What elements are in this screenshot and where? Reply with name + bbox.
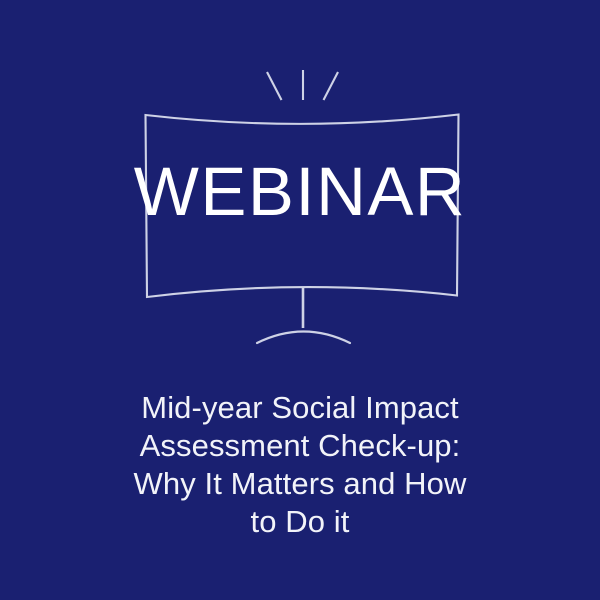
light-ray-right-icon — [324, 72, 339, 100]
monitor-base-icon — [257, 332, 350, 344]
webinar-poster: WEBINAR Mid-year Social Impact Assessmen… — [0, 0, 600, 600]
title-line-1: Mid-year Social Impact — [50, 389, 550, 427]
title-line-3: Why It Matters and How — [50, 465, 550, 503]
webinar-title: Mid-year Social Impact Assessment Check-… — [50, 389, 550, 541]
title-line-4: to Do it — [50, 503, 550, 541]
light-rays-icon — [267, 70, 338, 100]
title-line-2: Assessment Check-up: — [50, 427, 550, 465]
webinar-screen-label: WEBINAR — [0, 157, 600, 226]
light-ray-left-icon — [267, 72, 282, 100]
